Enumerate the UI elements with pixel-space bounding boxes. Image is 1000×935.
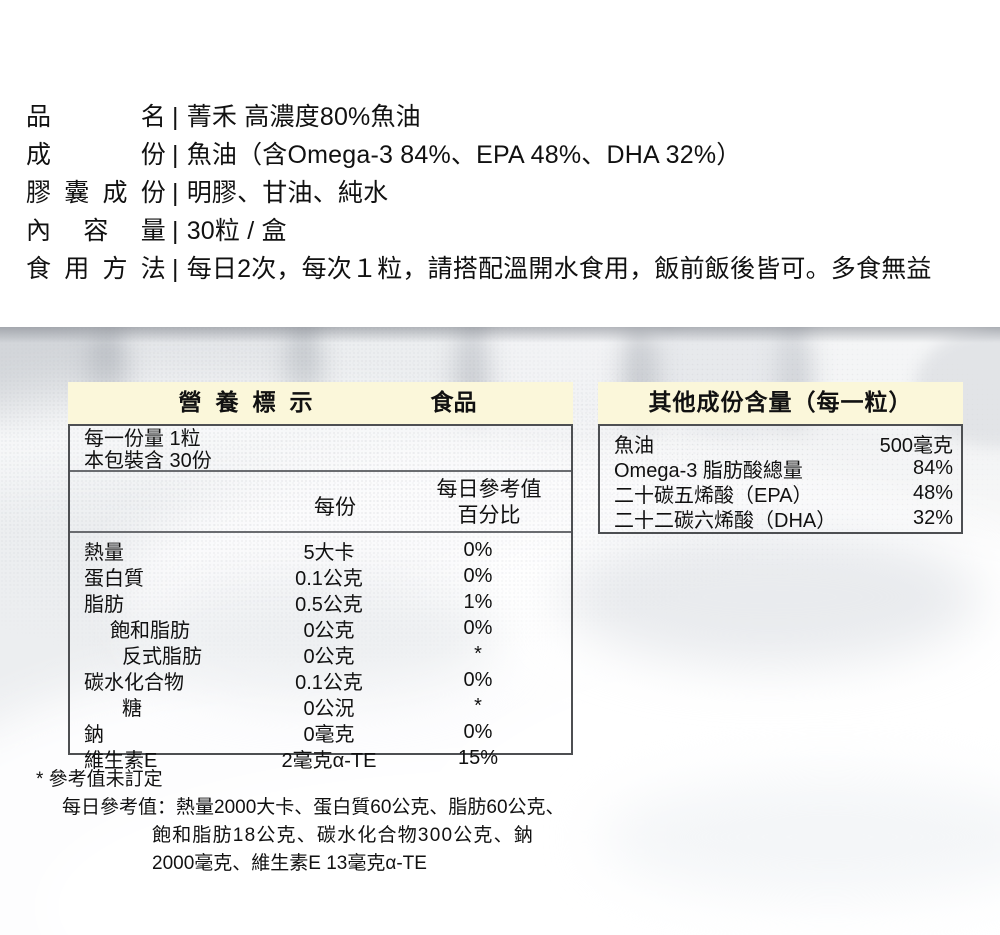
- footnote-star-note: * 參考值未訂定: [36, 766, 656, 794]
- product-spec-list: 品 名 | 菁禾 高濃度80%魚油 成 份 | 魚油（含Omega-3 84%、…: [26, 98, 986, 288]
- servings-per-container-text: 本包裝含 30份: [84, 450, 571, 472]
- nutrient-daily-value: 0%: [403, 669, 553, 692]
- serving-size-text: 每一份量 1粒: [84, 428, 571, 450]
- spec-label-capsule-ingredients: 膠 囊 成 份: [26, 174, 166, 212]
- table-row: 熱量 5大卡 0%: [70, 537, 571, 563]
- column-header-daily-value: 每日參考值 百分比: [415, 477, 563, 529]
- spec-label-net-content: 內 容 量: [26, 212, 166, 250]
- spec-separator: |: [166, 136, 187, 174]
- table-row: 蛋白質 0.1公克 0%: [70, 563, 571, 589]
- nutrient-amount: 0公況: [255, 692, 403, 721]
- nutrient-daily-value: 0%: [403, 539, 553, 562]
- column-header-per-serving: 每份: [270, 491, 400, 521]
- nutrition-facts-header-band: 營養標示 食品: [68, 382, 573, 424]
- table-row: 脂肪 0.5公克 1%: [70, 589, 571, 615]
- nutrient-name: 脂肪: [70, 588, 255, 617]
- table-row: 二十碳五烯酸（EPA） 48%: [600, 481, 961, 506]
- table-row: 鈉 0毫克 0%: [70, 719, 571, 745]
- spec-label-ingredients: 成 份: [26, 136, 166, 174]
- spec-row-usage: 食 用 方 法 | 每日2次，每次１粒，請搭配溫開水食用，飯前飯後皆可。多食無益: [26, 250, 986, 288]
- nutrient-amount: 0.1公克: [255, 666, 403, 695]
- nutrient-name: 鈉: [70, 718, 255, 747]
- spec-separator: |: [166, 212, 187, 250]
- spec-value-ingredients: 魚油（含Omega-3 84%、EPA 48%、DHA 32%）: [187, 136, 986, 174]
- column-header-daily-value-line1: 每日參考值: [415, 477, 563, 503]
- ingredient-value: 84%: [852, 457, 957, 480]
- spec-value-product-name: 菁禾 高濃度80%魚油: [187, 98, 986, 136]
- footnote-daily-values-line3: 2000毫克、維生素E 13毫克α-TE: [36, 850, 656, 878]
- spec-label-usage: 食 用 方 法: [26, 250, 166, 288]
- other-ingredients-table: 魚油 500毫克 Omega-3 脂肪酸總量 84% 二十碳五烯酸（EPA） 4…: [598, 424, 963, 534]
- nutrient-amount: 5大卡: [255, 536, 403, 565]
- nutrient-name: 飽和脂肪: [70, 614, 255, 643]
- table-row: 魚油 500毫克: [600, 431, 961, 456]
- spec-label-product-name: 品 名: [26, 98, 166, 136]
- nutrient-name: 蛋白質: [70, 562, 255, 591]
- nutrition-rows: 熱量 5大卡 0% 蛋白質 0.1公克 0% 脂肪 0.5公克 1% 飽和脂肪 …: [70, 533, 571, 771]
- nutrition-facts-category-label: 食品: [431, 382, 477, 422]
- ingredient-value: 48%: [852, 482, 957, 505]
- nutrition-serving-block: 每一份量 1粒 本包裝含 30份: [70, 426, 571, 472]
- ingredient-name: 二十二碳六烯酸（DHA）: [600, 504, 852, 533]
- nutrient-amount: 0公克: [255, 614, 403, 643]
- table-row: 碳水化合物 0.1公克 0%: [70, 667, 571, 693]
- nutrient-amount: 0.1公克: [255, 562, 403, 591]
- nutrient-daily-value: 1%: [403, 591, 553, 614]
- spec-row-ingredients: 成 份 | 魚油（含Omega-3 84%、EPA 48%、DHA 32%）: [26, 136, 986, 174]
- nutrient-daily-value: *: [403, 695, 553, 718]
- nutrition-facts-title: 營養標示: [165, 382, 327, 422]
- spec-row-net-content: 內 容 量 | 30粒 / 盒: [26, 212, 986, 250]
- product-spec-panel: 品 名 | 菁禾 高濃度80%魚油 成 份 | 魚油（含Omega-3 84%、…: [0, 0, 1000, 327]
- nutrition-facts-header-text: 營養標示 食品: [68, 382, 573, 422]
- spec-value-capsule-ingredients: 明膠、甘油、純水: [187, 174, 986, 212]
- other-ingredients-title: 其他成份含量（每一粒）: [598, 382, 963, 422]
- table-row: 糖 0公況 *: [70, 693, 571, 719]
- footnote-daily-values-line2: 飽和脂肪18公克、碳水化合物300公克、鈉: [36, 822, 656, 850]
- nutrient-daily-value: *: [403, 643, 553, 666]
- spec-value-net-content: 30粒 / 盒: [187, 212, 986, 250]
- ingredient-value: 500毫克: [852, 429, 957, 458]
- nutrient-daily-value: 0%: [403, 565, 553, 588]
- table-row: 二十二碳六烯酸（DHA） 32%: [600, 506, 961, 531]
- table-row: Omega-3 脂肪酸總量 84%: [600, 456, 961, 481]
- nutrient-name: 反式脂肪: [70, 640, 255, 669]
- footnote-daily-values-line1: 每日參考值：熱量2000大卡、蛋白質60公克、脂肪60公克、: [36, 794, 656, 822]
- spec-separator: |: [166, 174, 187, 212]
- nutrient-amount: 0毫克: [255, 718, 403, 747]
- nutrition-column-headers: 每份 每日參考值 百分比: [70, 472, 571, 533]
- table-row: 飽和脂肪 0公克 0%: [70, 615, 571, 641]
- nutrient-name: 糖: [70, 692, 255, 721]
- nutrient-amount: 0公克: [255, 640, 403, 669]
- table-row: 反式脂肪 0公克 *: [70, 641, 571, 667]
- other-ingredients-header-band: 其他成份含量（每一粒）: [598, 382, 963, 424]
- spec-separator: |: [166, 98, 187, 136]
- nutrient-amount: 0.5公克: [255, 588, 403, 617]
- nutrient-name: 碳水化合物: [70, 666, 255, 695]
- spec-row-capsule-ingredients: 膠 囊 成 份 | 明膠、甘油、純水: [26, 174, 986, 212]
- spec-separator: |: [166, 250, 187, 288]
- nutrient-daily-value: 0%: [403, 617, 553, 640]
- nutrient-daily-value: 0%: [403, 721, 553, 744]
- column-header-daily-value-line2: 百分比: [415, 503, 563, 529]
- nutrition-facts-table: 每一份量 1粒 本包裝含 30份 每份 每日參考值 百分比 熱量 5大卡 0% …: [68, 424, 573, 755]
- spec-row-product-name: 品 名 | 菁禾 高濃度80%魚油: [26, 98, 986, 136]
- ingredient-value: 32%: [852, 507, 957, 530]
- nutrient-name: 熱量: [70, 536, 255, 565]
- spec-value-usage: 每日2次，每次１粒，請搭配溫開水食用，飯前飯後皆可。多食無益: [187, 250, 986, 288]
- footnote-block: * 參考值未訂定 每日參考值：熱量2000大卡、蛋白質60公克、脂肪60公克、 …: [36, 766, 656, 878]
